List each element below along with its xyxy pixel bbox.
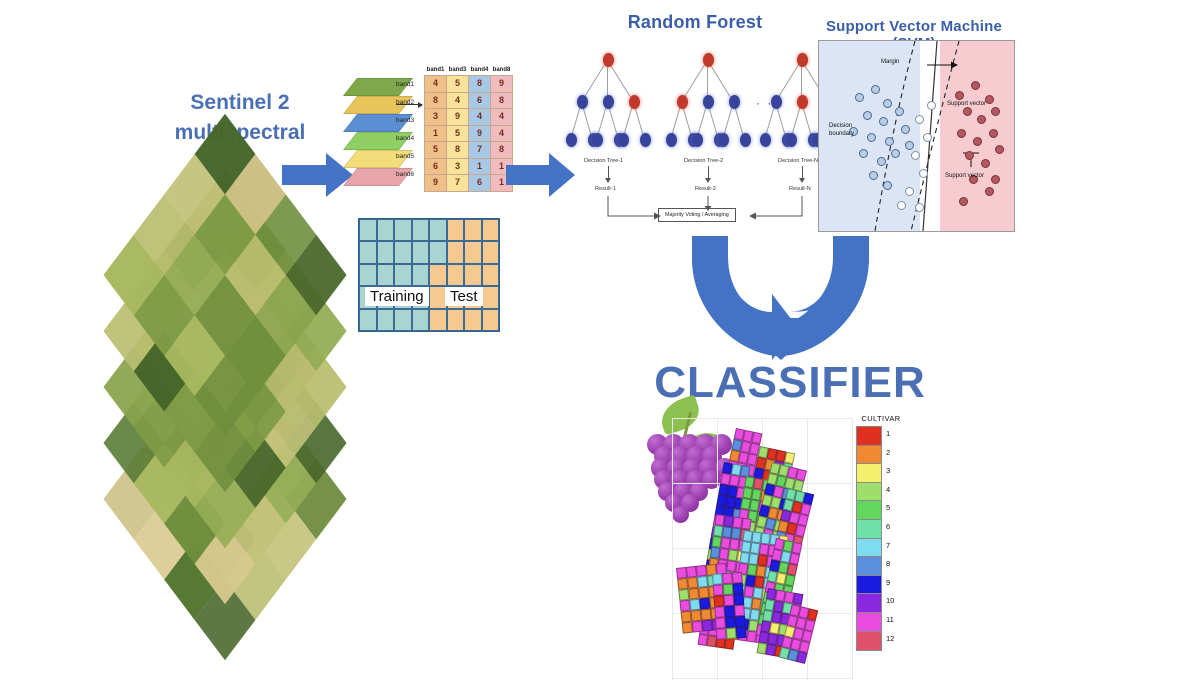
training-cell: [359, 264, 377, 286]
cultivar-legend: CULTIVAR 123456789101112: [852, 414, 910, 649]
test-cell: [482, 309, 500, 331]
legend-item: 4: [852, 482, 910, 501]
vineyard-plot: [734, 605, 745, 617]
trees-ellipsis: · · ·: [756, 96, 785, 110]
table-cell: 1: [425, 125, 447, 142]
training-cell: [394, 264, 412, 286]
test-cell: [447, 309, 465, 331]
legend-swatch: [856, 538, 882, 558]
legend-swatch: [856, 500, 882, 520]
svm-point-class-a: [883, 99, 892, 108]
legend-swatch: [856, 631, 882, 651]
tree-node-blue: [566, 133, 577, 147]
svm-point-class-b: [995, 145, 1004, 154]
decision-tree-label: Decision Tree-2: [684, 158, 723, 164]
training-cell: [412, 309, 430, 331]
training-cell: [394, 219, 412, 241]
svm-decision-boundary-line2: boundary: [829, 131, 854, 139]
band-layer-label: band1: [396, 81, 414, 88]
legend-item: 6: [852, 519, 910, 538]
table-cell: 4: [491, 125, 513, 142]
table-cell: 9: [491, 76, 513, 93]
legend-swatch: [856, 593, 882, 613]
test-cell: [482, 264, 500, 286]
legend-item: 7: [852, 538, 910, 557]
legend-swatch: [856, 612, 882, 632]
training-cell: [412, 241, 430, 263]
table-row: 1594: [425, 125, 513, 142]
svm-point-class-a: [883, 181, 892, 190]
svm-panel: Margin Support vector Support vector Dec…: [818, 40, 1015, 232]
tree-result-arrow-icon: [705, 178, 711, 183]
legend-item: 11: [852, 612, 910, 631]
table-cell: 5: [447, 76, 469, 93]
training-cell: [377, 309, 395, 331]
test-cell: [447, 241, 465, 263]
table-cell: 3: [447, 158, 469, 175]
svm-point-margin: [915, 203, 924, 212]
tree-node-blue: [692, 133, 703, 147]
table-cell: 5: [447, 125, 469, 142]
band-layer-label: band3: [396, 117, 414, 124]
tree-result-label: Result-1: [595, 186, 616, 192]
training-cell: [394, 309, 412, 331]
training-cell: [359, 241, 377, 263]
svm-point-class-b: [959, 197, 968, 206]
legend-label: 7: [886, 541, 890, 550]
svm-point-class-b: [977, 115, 986, 124]
legend-item: 9: [852, 575, 910, 594]
svm-point-class-b: [971, 81, 980, 90]
svm-point-margin: [927, 101, 936, 110]
svm-point-class-b: [957, 129, 966, 138]
map-gridline: [672, 418, 673, 680]
legend-label: 12: [886, 634, 894, 643]
test-cell: [464, 309, 482, 331]
tree-node-blue: [740, 133, 751, 147]
tree-node-blue: [703, 95, 714, 109]
training-cell: [359, 309, 377, 331]
test-cell: [447, 264, 465, 286]
table-cell: 3: [425, 109, 447, 126]
majority-voting-box: Majority Voting / Averaging: [658, 208, 736, 222]
test-cell: [429, 309, 447, 331]
training-test-split-grid: Training Test: [358, 218, 500, 332]
legend-label: 2: [886, 448, 890, 457]
vineyard-plot: [733, 583, 744, 595]
legend-swatch: [856, 519, 882, 539]
tree-node-blue: [666, 133, 677, 147]
test-cell: [429, 286, 447, 308]
vineyard-plot: [736, 627, 747, 639]
table-cell: 9: [469, 125, 491, 142]
tree-result-label: Result-N: [789, 186, 811, 192]
svm-point-margin: [915, 115, 924, 124]
test-cell: [447, 219, 465, 241]
legend-swatch: [856, 426, 882, 446]
legend-label: 3: [886, 466, 890, 475]
band-to-table-arrow-icon: [396, 104, 422, 105]
tree-node-red: [677, 95, 688, 109]
tree-result-label: Result-2: [695, 186, 716, 192]
svm-point-class-a: [859, 149, 868, 158]
legend-item: 8: [852, 556, 910, 575]
test-cell: [482, 219, 500, 241]
table-cell: 4: [469, 109, 491, 126]
table-column-header: band8: [491, 66, 513, 76]
test-cell: [429, 264, 447, 286]
legend-item: 3: [852, 463, 910, 482]
decision-tree-label: Decision Tree-1: [584, 158, 623, 164]
svm-point-class-b: [955, 91, 964, 100]
svm-point-class-b: [985, 95, 994, 104]
legend-label: 6: [886, 522, 890, 531]
svm-point-class-a: [863, 111, 872, 120]
table-row: 6311: [425, 158, 513, 175]
legend-label: 1: [886, 429, 890, 438]
legend-swatch: [856, 463, 882, 483]
svm-point-class-a: [879, 117, 888, 126]
tree-node-red: [797, 95, 808, 109]
table-cell: 5: [425, 142, 447, 159]
svm-point-class-b: [991, 175, 1000, 184]
svm-point-class-b: [965, 151, 974, 160]
table-cell: 4: [447, 92, 469, 109]
vineyard-plot: [735, 616, 746, 628]
legend-swatch: [856, 445, 882, 465]
tree-node-red: [629, 95, 640, 109]
vineyard-plot: [733, 594, 744, 606]
training-cell: [429, 241, 447, 263]
training-cell: [377, 219, 395, 241]
table-cell: 8: [491, 92, 513, 109]
svm-point-class-b: [985, 187, 994, 196]
legend-swatch: [856, 575, 882, 595]
tree-node-blue: [729, 95, 740, 109]
legend-item: 1: [852, 426, 910, 445]
svm-point-class-a: [877, 157, 886, 166]
training-cell: [412, 219, 430, 241]
training-label: Training: [365, 287, 429, 306]
test-cell: [482, 286, 500, 308]
tree-node-blue: [760, 133, 771, 147]
svm-point-class-b: [989, 129, 998, 138]
training-cell: [359, 219, 377, 241]
svm-point-class-a: [869, 171, 878, 180]
svm-point-margin: [911, 151, 920, 160]
table-row: 5878: [425, 142, 513, 159]
training-cell: [412, 264, 430, 286]
tree-node-blue: [718, 133, 729, 147]
svm-point-class-a: [901, 125, 910, 134]
svm-point-margin: [905, 187, 914, 196]
random-forest-title: Random Forest: [585, 12, 805, 33]
tree-node-blue: [640, 133, 651, 147]
tree-node-red: [603, 53, 614, 67]
table-row: 9761: [425, 175, 513, 192]
table-row: 4589: [425, 76, 513, 93]
legend-label: 10: [886, 596, 894, 605]
sentinel-label-line1: Sentinel 2: [130, 88, 350, 118]
tree-result-arrow-icon: [799, 178, 805, 183]
legend-swatch: [856, 556, 882, 576]
test-cell: [464, 219, 482, 241]
legend-label: 11: [886, 615, 894, 624]
svm-point-class-a: [867, 133, 876, 142]
table-cell: 8: [425, 92, 447, 109]
legend-swatch: [856, 482, 882, 502]
legend-label: 8: [886, 559, 890, 568]
tree-node-blue: [618, 133, 629, 147]
svm-margin-label: Margin: [881, 59, 899, 67]
tree-node-red: [797, 53, 808, 67]
vineyard-plot: [732, 572, 743, 584]
vineyard-plot: [796, 651, 807, 664]
band-value-table: band1band3band4band8 4589846839441594587…: [424, 66, 513, 192]
svm-decision-boundary-label: Decision boundary: [829, 123, 854, 138]
legend-item: 10: [852, 593, 910, 612]
tree-result-arrow-icon: [605, 178, 611, 183]
table-cell: 8: [469, 76, 491, 93]
svm-point-class-a: [891, 149, 900, 158]
legend-label: 9: [886, 578, 890, 587]
merge-arrow-to-classifier: [688, 232, 873, 360]
test-label: Test: [445, 287, 483, 306]
legend-label: 4: [886, 485, 890, 494]
table-cell: 4: [491, 109, 513, 126]
figure-canvas: Sentinel 2 multispectral band1band2band3…: [0, 0, 1200, 700]
svm-point-class-b: [973, 137, 982, 146]
table-cell: 6: [469, 175, 491, 192]
legend-title: CULTIVAR: [852, 414, 910, 423]
tree-node-red: [703, 53, 714, 67]
test-cell: [482, 241, 500, 263]
svm-point-margin: [923, 133, 932, 142]
training-cell: [377, 241, 395, 263]
table-column-header: band3: [447, 66, 469, 76]
band-layer-label: band6: [396, 171, 414, 178]
legend-label: 5: [886, 503, 890, 512]
svm-decision-boundary-line1: Decision: [829, 123, 854, 131]
classified-vineyard-map: [672, 418, 852, 680]
svm-point-class-a: [871, 85, 880, 94]
random-forest-panel: Decision Tree-1Result-1Decision Tree-2Re…: [580, 40, 815, 225]
table-body: 4589846839441594587863119761: [425, 76, 513, 192]
legend-item: 12: [852, 631, 910, 650]
svm-point-class-a: [855, 93, 864, 102]
table-header-row: band1band3band4band8: [425, 66, 513, 76]
training-cell: [394, 241, 412, 263]
training-cell: [377, 264, 395, 286]
table-cell: 1: [469, 158, 491, 175]
svm-point-margin: [919, 169, 928, 178]
legend-item: 2: [852, 445, 910, 464]
table-cell: 9: [425, 175, 447, 192]
test-cell: [464, 241, 482, 263]
table-cell: 7: [447, 175, 469, 192]
svm-point-class-b: [991, 107, 1000, 116]
table-column-header: band1: [425, 66, 447, 76]
satellite-image-stack: [110, 175, 340, 505]
tree-node-blue: [786, 133, 797, 147]
training-cell: [429, 219, 447, 241]
table-cell: 4: [425, 76, 447, 93]
svm-support-vector-label-top: Support vector: [947, 101, 986, 109]
legend-item: 5: [852, 500, 910, 519]
svm-point-margin: [897, 201, 906, 210]
test-cell: [464, 264, 482, 286]
tree-node-blue: [577, 95, 588, 109]
table-cell: 6: [425, 158, 447, 175]
tree-node-blue: [592, 133, 603, 147]
tree-node-blue: [603, 95, 614, 109]
table-row: 8468: [425, 92, 513, 109]
legend-rows: 123456789101112: [852, 426, 910, 649]
svm-point-class-a: [895, 107, 904, 116]
table-cell: 6: [469, 92, 491, 109]
map-gridline: [672, 678, 852, 679]
svm-point-class-b: [981, 159, 990, 168]
table-cell: 7: [469, 142, 491, 159]
table-cell: 8: [447, 142, 469, 159]
arrow-right-bands-to-models: [506, 152, 576, 198]
table-column-header: band4: [469, 66, 491, 76]
decision-tree-label: Decision Tree-N: [778, 158, 818, 164]
band-layer-label: band5: [396, 153, 414, 160]
arrow-right-stack-to-bands: [282, 152, 354, 198]
band-layer-label: band4: [396, 135, 414, 142]
svm-point-class-a: [885, 137, 894, 146]
table-row: 3944: [425, 109, 513, 126]
svm-support-vector-label-bottom: Support vector: [945, 173, 984, 181]
svm-point-class-a: [905, 141, 914, 150]
table-cell: 9: [447, 109, 469, 126]
